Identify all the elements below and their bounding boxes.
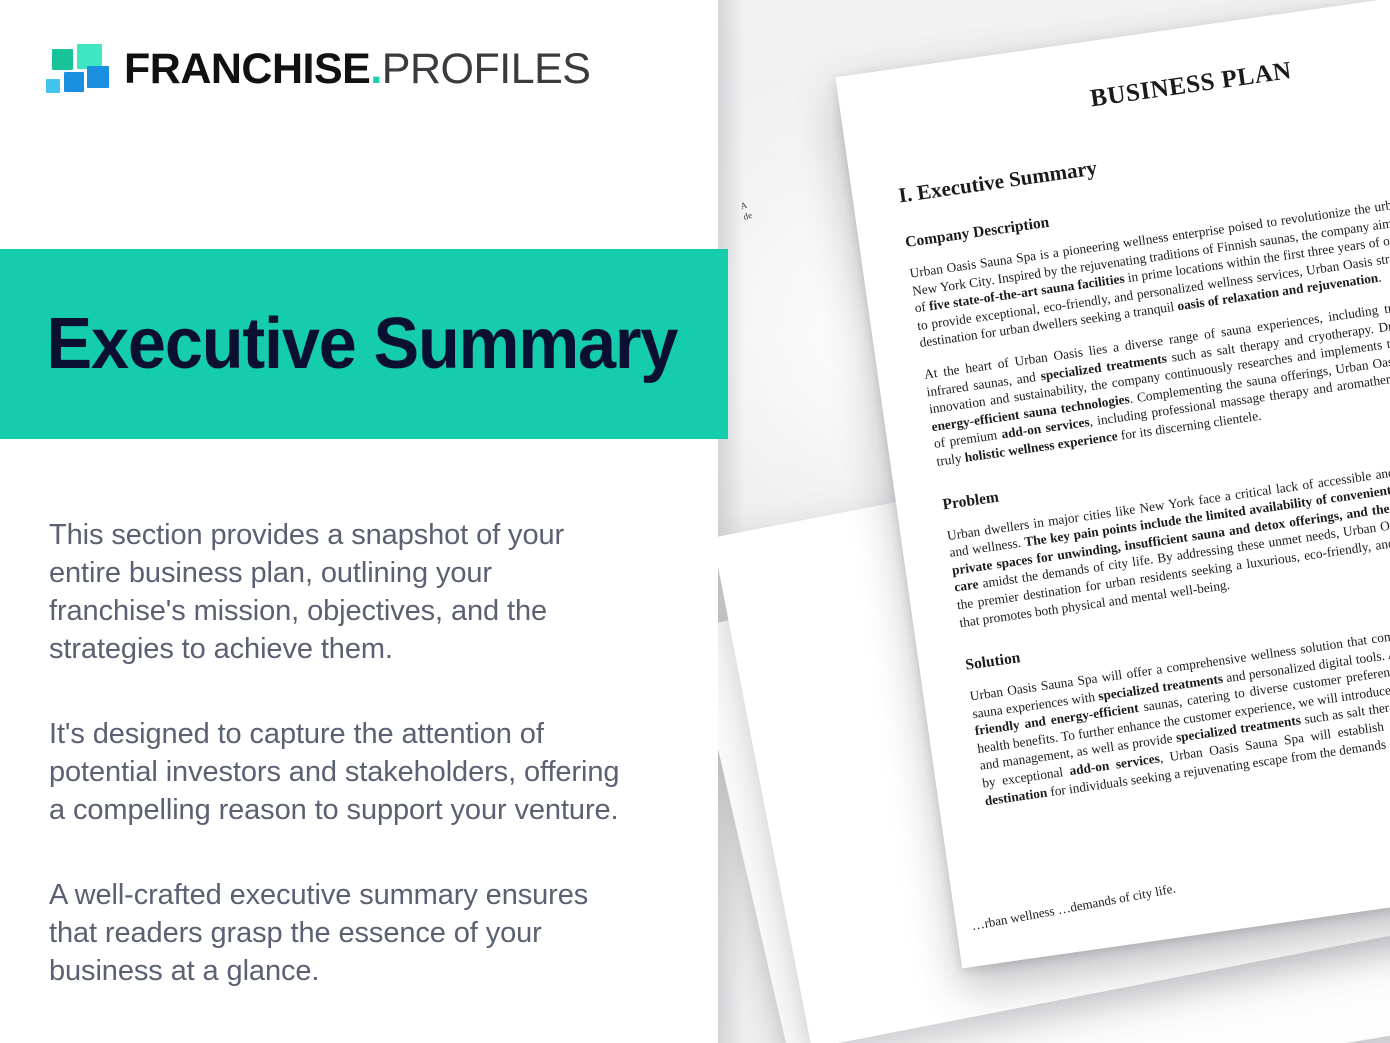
logo-square-green <box>52 49 73 70</box>
body-paragraph: This section provides a snapshot of your… <box>49 516 624 668</box>
logo-word-profiles: PROFILES <box>382 45 591 93</box>
business-plan-content: BUSINESS PLAN I. Executive Summary Compa… <box>887 28 1390 829</box>
logo-word-dot: . <box>370 45 381 93</box>
document-image-panel: Ade BUSINESS PLAN I. Executive Summary C… <box>718 0 1390 1043</box>
body-copy: This section provides a snapshot of your… <box>49 516 624 990</box>
page-title: Executive Summary <box>0 308 677 380</box>
logo-square-lightblue <box>46 79 60 93</box>
logo-wordmark: FRANCHISE.PROFILES <box>124 48 590 91</box>
body-paragraph: It's designed to capture the attention o… <box>49 715 624 829</box>
body-paragraph: A well-crafted executive summary ensures… <box>49 876 624 990</box>
slide-root: Ade BUSINESS PLAN I. Executive Summary C… <box>0 0 1390 1043</box>
logo-square-blue <box>64 72 84 92</box>
logo-word-franchise: FRANCHISE <box>124 45 370 93</box>
paper-stack: Ade BUSINESS PLAN I. Executive Summary C… <box>718 0 1390 1043</box>
logo-square-blue <box>87 66 109 88</box>
paper-text-fragment: Ade <box>739 199 753 222</box>
logo-squares-icon <box>46 44 102 94</box>
title-banner: Executive Summary <box>0 249 728 439</box>
brand-logo[interactable]: FRANCHISE.PROFILES <box>46 44 590 94</box>
